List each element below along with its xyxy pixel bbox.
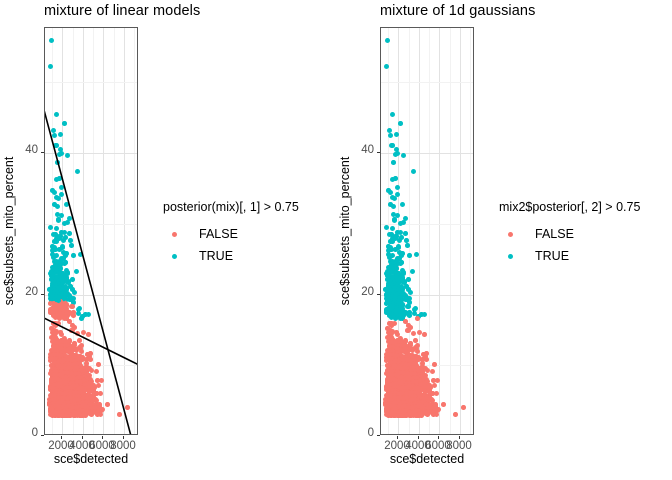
y-tick-label-20: 20 xyxy=(2,286,38,298)
x-tick-6000 xyxy=(102,436,103,439)
figure-canvas: mixture of linear models sce$subsets_mit… xyxy=(0,0,672,480)
y-axis-title-left: sce$subsets_mito_percent xyxy=(2,27,19,435)
y-tick-label-40: 40 xyxy=(2,144,38,156)
y-tick-0 xyxy=(41,435,44,436)
x-axis-title-left: sce$detected xyxy=(44,452,138,466)
page-title-left: mixture of linear models xyxy=(44,3,200,19)
x-tick-4000 xyxy=(82,436,83,439)
y-tick-label-0: 0 xyxy=(2,427,38,439)
panel-mixture-of-linear-models: mixture of linear models sce$subsets_mit… xyxy=(0,0,336,480)
x-tick-2000 xyxy=(61,436,62,439)
x-tick-8000 xyxy=(123,436,124,439)
x-tick-label-8000: 8000 xyxy=(110,440,136,452)
plot-area-left xyxy=(44,27,138,435)
